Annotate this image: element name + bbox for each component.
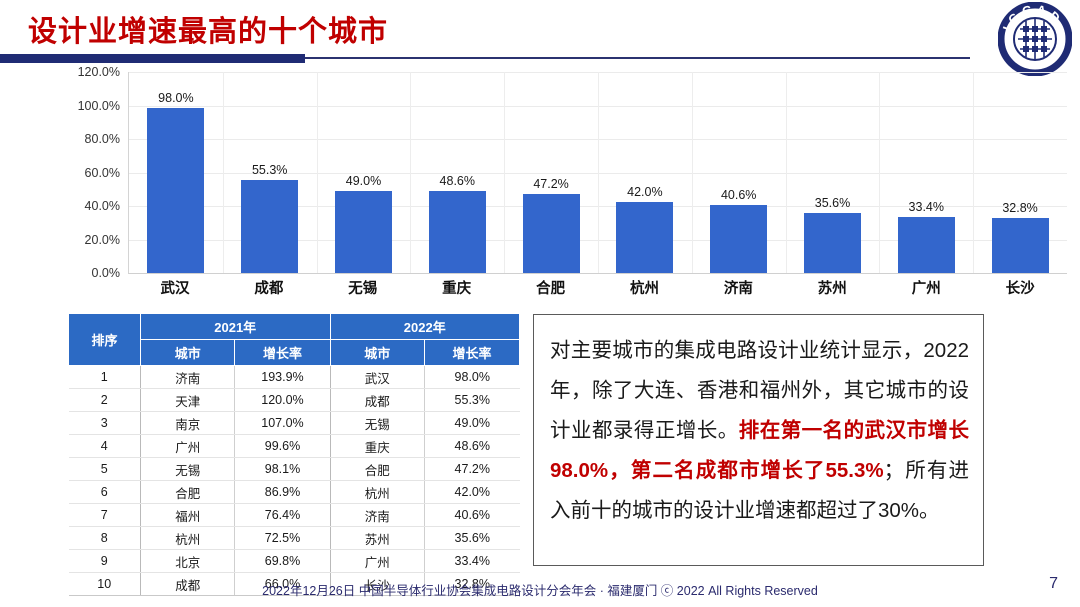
commentary-text: 对主要城市的集成电路设计业统计显示，2022年，除了大连、香港和福州外，其它城市…: [550, 331, 969, 531]
cell-city-2022: 成都: [330, 389, 425, 412]
bar-value-label: 55.3%: [252, 163, 287, 177]
cell-city-2022: 武汉: [330, 366, 425, 389]
bar-value-label: 32.8%: [1002, 201, 1037, 215]
chart-y-axis: 120.0% 100.0% 80.0% 60.0% 40.0% 20.0% 0.…: [62, 72, 124, 274]
x-tick-label: 无锡: [316, 277, 410, 298]
cell-rank: 1: [69, 366, 141, 389]
cell-rank: 5: [69, 458, 141, 481]
x-tick-label: 长沙: [973, 277, 1067, 298]
chart-bar[interactable]: 35.6%: [804, 213, 861, 273]
iccad-logo-icon: I C C A D: [998, 2, 1072, 76]
cell-city-2021: 合肥: [140, 481, 235, 504]
cell-city-2022: 无锡: [330, 412, 425, 435]
bar-slot: 47.2%: [504, 72, 598, 273]
bar-value-label: 35.6%: [815, 196, 850, 210]
growth-ranking-table: 排序 2021年 2022年 城市 增长率 城市 增长率 1济南193.9%武汉…: [68, 313, 520, 596]
cell-growth-2022: 48.6%: [425, 435, 520, 458]
cell-city-2021: 天津: [140, 389, 235, 412]
bar-value-label: 40.6%: [721, 188, 756, 202]
chart-bars: 98.0%55.3%49.0%48.6%47.2%42.0%40.6%35.6%…: [129, 72, 1067, 273]
x-tick-label: 武汉: [128, 277, 222, 298]
header-growth-2022: 增长率: [425, 340, 520, 366]
bar-value-label: 33.4%: [909, 200, 944, 214]
cell-growth-2021: 69.8%: [235, 550, 330, 573]
bar-slot: 42.0%: [598, 72, 692, 273]
cell-growth-2021: 99.6%: [235, 435, 330, 458]
table-row: 9北京69.8%广州33.4%: [69, 550, 520, 573]
cell-city-2021: 南京: [140, 412, 235, 435]
cell-growth-2021: 86.9%: [235, 481, 330, 504]
cell-growth-2021: 76.4%: [235, 504, 330, 527]
x-tick-label: 成都: [222, 277, 316, 298]
cell-city-2021: 广州: [140, 435, 235, 458]
chart-bar[interactable]: 55.3%: [241, 180, 298, 273]
table-row: 6合肥86.9%杭州42.0%: [69, 481, 520, 504]
header-city-2021: 城市: [140, 340, 235, 366]
cell-growth-2021: 72.5%: [235, 527, 330, 550]
cell-city-2022: 广州: [330, 550, 425, 573]
bar-slot: 33.4%: [879, 72, 973, 273]
table-row: 3南京107.0%无锡49.0%: [69, 412, 520, 435]
table-body: 1济南193.9%武汉98.0%2天津120.0%成都55.3%3南京107.0…: [69, 366, 520, 596]
table-head: 排序 2021年 2022年 城市 增长率 城市 增长率: [69, 314, 520, 366]
page-title: 设计业增速最高的十个城市: [28, 8, 388, 50]
cell-rank: 4: [69, 435, 141, 458]
cell-rank: 3: [69, 412, 141, 435]
cell-city-2022: 合肥: [330, 458, 425, 481]
cell-growth-2022: 33.4%: [425, 550, 520, 573]
bar-slot: 98.0%: [129, 72, 223, 273]
table-row: 5无锡98.1%合肥47.2%: [69, 458, 520, 481]
x-tick-label: 合肥: [504, 277, 598, 298]
header-year-2022: 2022年: [330, 314, 519, 340]
title-rule-thin: [305, 57, 970, 59]
commentary-box: 对主要城市的集成电路设计业统计显示，2022年，除了大连、香港和福州外，其它城市…: [533, 314, 984, 566]
table-row: 7福州76.4%济南40.6%: [69, 504, 520, 527]
chart-bar[interactable]: 48.6%: [429, 191, 486, 273]
y-tick-label: 40.0%: [85, 199, 120, 213]
table-row: 8杭州72.5%苏州35.6%: [69, 527, 520, 550]
chart-bar[interactable]: 42.0%: [616, 202, 673, 273]
y-tick-label: 120.0%: [78, 65, 120, 79]
y-tick-label: 60.0%: [85, 166, 120, 180]
chart-bar[interactable]: 40.6%: [710, 205, 767, 273]
bar-value-label: 42.0%: [627, 185, 662, 199]
bar-slot: 40.6%: [692, 72, 786, 273]
title-rule-thick: [0, 54, 305, 63]
cell-city-2022: 济南: [330, 504, 425, 527]
header-rank: 排序: [69, 314, 141, 366]
cell-growth-2022: 98.0%: [425, 366, 520, 389]
table-row: 2天津120.0%成都55.3%: [69, 389, 520, 412]
bar-slot: 32.8%: [973, 72, 1067, 273]
bar-value-label: 49.0%: [346, 174, 381, 188]
table-row: 4广州99.6%重庆48.6%: [69, 435, 520, 458]
cell-rank: 7: [69, 504, 141, 527]
cell-city-2022: 苏州: [330, 527, 425, 550]
y-tick-label: 0.0%: [92, 266, 121, 280]
chart-bar[interactable]: 33.4%: [898, 217, 955, 273]
y-tick-label: 20.0%: [85, 233, 120, 247]
cell-growth-2022: 49.0%: [425, 412, 520, 435]
cell-growth-2021: 107.0%: [235, 412, 330, 435]
cell-city-2021: 杭州: [140, 527, 235, 550]
x-tick-label: 苏州: [785, 277, 879, 298]
cell-growth-2022: 40.6%: [425, 504, 520, 527]
cell-growth-2022: 47.2%: [425, 458, 520, 481]
footer-text: 2022年12月26日 中国半导体行业协会集成电路设计分会年会 · 福建厦门 ⓒ…: [0, 580, 1080, 599]
chart-bar[interactable]: 98.0%: [147, 108, 204, 273]
cell-growth-2022: 35.6%: [425, 527, 520, 550]
cell-rank: 6: [69, 481, 141, 504]
y-tick-label: 100.0%: [78, 99, 120, 113]
cell-growth-2021: 120.0%: [235, 389, 330, 412]
bar-slot: 49.0%: [317, 72, 411, 273]
cell-city-2021: 无锡: [140, 458, 235, 481]
header-growth-2021: 增长率: [235, 340, 330, 366]
bar-slot: 48.6%: [410, 72, 504, 273]
header-city-2022: 城市: [330, 340, 425, 366]
bar-slot: 55.3%: [223, 72, 317, 273]
chart-bar[interactable]: 32.8%: [992, 218, 1049, 273]
chart-x-axis: 武汉成都无锡重庆合肥杭州济南苏州广州长沙: [128, 277, 1067, 298]
bar-value-label: 98.0%: [158, 91, 193, 105]
x-tick-label: 济南: [691, 277, 785, 298]
cell-city-2022: 重庆: [330, 435, 425, 458]
bar-slot: 35.6%: [786, 72, 880, 273]
cell-rank: 9: [69, 550, 141, 573]
cell-growth-2021: 98.1%: [235, 458, 330, 481]
table-header-row-group: 排序 2021年 2022年: [69, 314, 520, 340]
cell-growth-2022: 55.3%: [425, 389, 520, 412]
cell-city-2022: 杭州: [330, 481, 425, 504]
bar-value-label: 48.6%: [440, 174, 475, 188]
x-tick-label: 杭州: [598, 277, 692, 298]
cell-city-2021: 北京: [140, 550, 235, 573]
y-tick-label: 80.0%: [85, 132, 120, 146]
cell-growth-2021: 193.9%: [235, 366, 330, 389]
table-row: 1济南193.9%武汉98.0%: [69, 366, 520, 389]
iccad-logo: I C C A D: [998, 2, 1072, 76]
x-tick-label: 广州: [879, 277, 973, 298]
cell-rank: 2: [69, 389, 141, 412]
header-year-2021: 2021年: [140, 314, 330, 340]
cell-city-2021: 济南: [140, 366, 235, 389]
chart-plot-area: 98.0%55.3%49.0%48.6%47.2%42.0%40.6%35.6%…: [128, 72, 1067, 274]
cell-city-2021: 福州: [140, 504, 235, 527]
page-number: 7: [1049, 575, 1058, 593]
bar-value-label: 47.2%: [533, 177, 568, 191]
cell-rank: 8: [69, 527, 141, 550]
x-tick-label: 重庆: [410, 277, 504, 298]
bar-chart: 120.0% 100.0% 80.0% 60.0% 40.0% 20.0% 0.…: [62, 72, 1067, 297]
chart-bar[interactable]: 49.0%: [335, 191, 392, 273]
chart-bar[interactable]: 47.2%: [523, 194, 580, 273]
cell-growth-2022: 42.0%: [425, 481, 520, 504]
